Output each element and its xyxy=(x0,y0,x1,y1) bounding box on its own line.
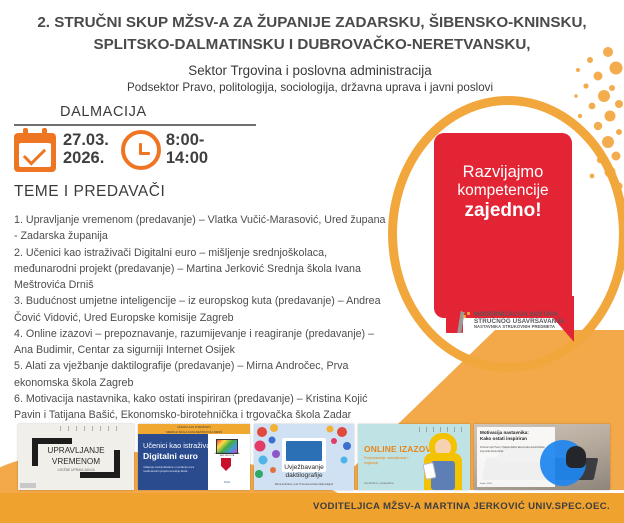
list-item: 4. Online izazovi – prepoznavanje, razum… xyxy=(14,326,386,359)
event-date: 27.03. 2026. xyxy=(63,132,109,168)
speech-bubble xyxy=(434,133,572,318)
date-time-row: 27.03. 2026. 8:00- 14:00 xyxy=(14,128,208,172)
thumb-body-text: mišljenje srednjoškolaca o uvođenju eura… xyxy=(143,465,205,473)
program-logo: MODERNIZACIJA SUSTAVA STRUČNOG USAVRŠAVA… xyxy=(446,304,570,338)
event-time: 8:00- 14:00 xyxy=(166,132,208,168)
badge-slogan-line1: Razvijajmo xyxy=(434,163,572,182)
thumb-title: UPRAVLJANJE VREMENOM xyxy=(18,446,134,467)
thumb-title: Motivacija nastavnika: Kako ostati inspi… xyxy=(480,430,550,442)
list-item: 5. Alati za vježbanje daktilografije (pr… xyxy=(14,358,386,391)
thumb-signature: Drniš xyxy=(214,481,240,484)
thumb-digitalni-euro[interactable]: UČENICI KAO ISTRAŽIVAČI SREDNJA ŠKOLA IV… xyxy=(138,424,250,490)
badge-slogan: Razvijajmo kompetencije zajedno! xyxy=(434,163,572,222)
thumb-title-line2: Kako ostati inspiriran xyxy=(480,436,550,442)
list-item: 6. Motivacija nastavnika, kako ostati in… xyxy=(14,391,386,424)
logo-line3: NASTAVNIKA STRUKOVNIH PREDMETA xyxy=(474,325,565,329)
thumb-title-line1: UPRAVLJANJE xyxy=(18,446,134,457)
calendar-check-icon xyxy=(14,128,56,172)
badge-slogan-line2: kompetencije xyxy=(434,182,572,200)
list-item: 3. Budućnost umjetne inteligencije – iz … xyxy=(14,293,386,326)
footer-bar: VODITELJICA MŽSV-A MARTINA JERKOVIĆ UNIV… xyxy=(0,493,624,523)
region-label: DALMACIJA xyxy=(60,104,147,120)
clock-icon xyxy=(121,130,161,170)
event-time-line1: 8:00- xyxy=(166,132,208,150)
presentation-thumbnail-strip: UPRAVLJANJE VREMENOM VJEŽBE UPRAVLJANJA … xyxy=(18,424,614,490)
thumb-footer: Zadar, 2026. xyxy=(480,483,534,486)
thumb-subtitle: Mirna Andročec, prof. Prva ekonomska ško… xyxy=(254,483,354,487)
poster-canvas: 2. STRUČNI SKUP MŽSV-A ZA ŽUPANIJE ZADAR… xyxy=(0,0,624,523)
thumb-footer: Ana Budimir, predavačica xyxy=(364,482,393,485)
event-time-line2: 14:00 xyxy=(166,150,208,168)
topics-list: 1. Upravljanje vremenom (predavanje) – V… xyxy=(14,212,386,423)
thumb-subtitle: VJEŽBE UPRAVLJANJA xyxy=(18,468,134,472)
event-date-line1: 27.03. xyxy=(63,132,109,150)
school-crest-label: SREDNJA ŠKOLA IVANA MEŠTROVIĆA xyxy=(209,453,245,457)
event-date-line2: 2026. xyxy=(63,150,109,168)
thumb-upravljanje-vremenom[interactable]: UPRAVLJANJE VREMENOM VJEŽBE UPRAVLJANJA xyxy=(18,424,134,490)
person-silhouette xyxy=(566,446,586,468)
subsector-label: Podsektor Pravo, politologija, sociologi… xyxy=(40,80,580,96)
page-title: 2. STRUČNI SKUP MŽSV-A ZA ŽUPANIJE ZADAR… xyxy=(18,12,606,56)
divider-rule xyxy=(14,124,256,126)
school-crest-icon xyxy=(216,439,238,454)
thumb-title-line2: VREMENOM xyxy=(18,457,134,468)
thumb-title-line2: Digitalni euro xyxy=(143,451,198,461)
slide-dots-decoration xyxy=(419,427,465,432)
thumb-title: Uvježbavanje daktilografije xyxy=(254,464,354,480)
topics-heading: TEME I PREDAVAČI xyxy=(14,183,165,201)
thumb-subtitle: Prepoznavanje, razumijevanje i reagiranj… xyxy=(364,456,422,465)
laptop-screen xyxy=(286,441,322,461)
thumb-body-text: Kristina Kojić Pavin i Tatijana Bašić Ek… xyxy=(480,446,546,453)
list-item: 1. Upravljanje vremenom (predavanje) – V… xyxy=(14,212,386,245)
badge-slogan-line3: zajedno! xyxy=(434,200,572,222)
thumb-motivacija[interactable]: Motivacija nastavnika: Kako ostati inspi… xyxy=(474,424,610,490)
slide-tag-decoration xyxy=(20,483,36,488)
footer-text: VODITELJICA MŽSV-A MARTINA JERKOVIĆ UNIV… xyxy=(313,501,610,512)
thumb-title-line1: Uvježbavanje xyxy=(254,464,354,472)
sector-label: Sektor Trgovina i poslovna administracij… xyxy=(60,62,560,80)
book-logo-icon xyxy=(446,308,470,334)
thumb-title-line2: daktilografije xyxy=(254,472,354,480)
thumb-daktilografija[interactable]: Uvježbavanje daktilografije Mirna Androč… xyxy=(254,424,354,490)
slide-dots-decoration xyxy=(60,426,120,431)
thumb-title-line1: Učenici kao istraživači xyxy=(143,441,216,450)
person-photo-illustration xyxy=(420,433,466,490)
list-item: 2. Učenici kao istraživači Digitalni eur… xyxy=(14,245,386,294)
thumb-header-bar: UČENICI KAO ISTRAŽIVAČI SREDNJA ŠKOLA IV… xyxy=(138,424,250,434)
thumb-online-izazovi[interactable]: ONLINE IZAZOVI Prepoznavanje, razumijeva… xyxy=(358,424,470,490)
